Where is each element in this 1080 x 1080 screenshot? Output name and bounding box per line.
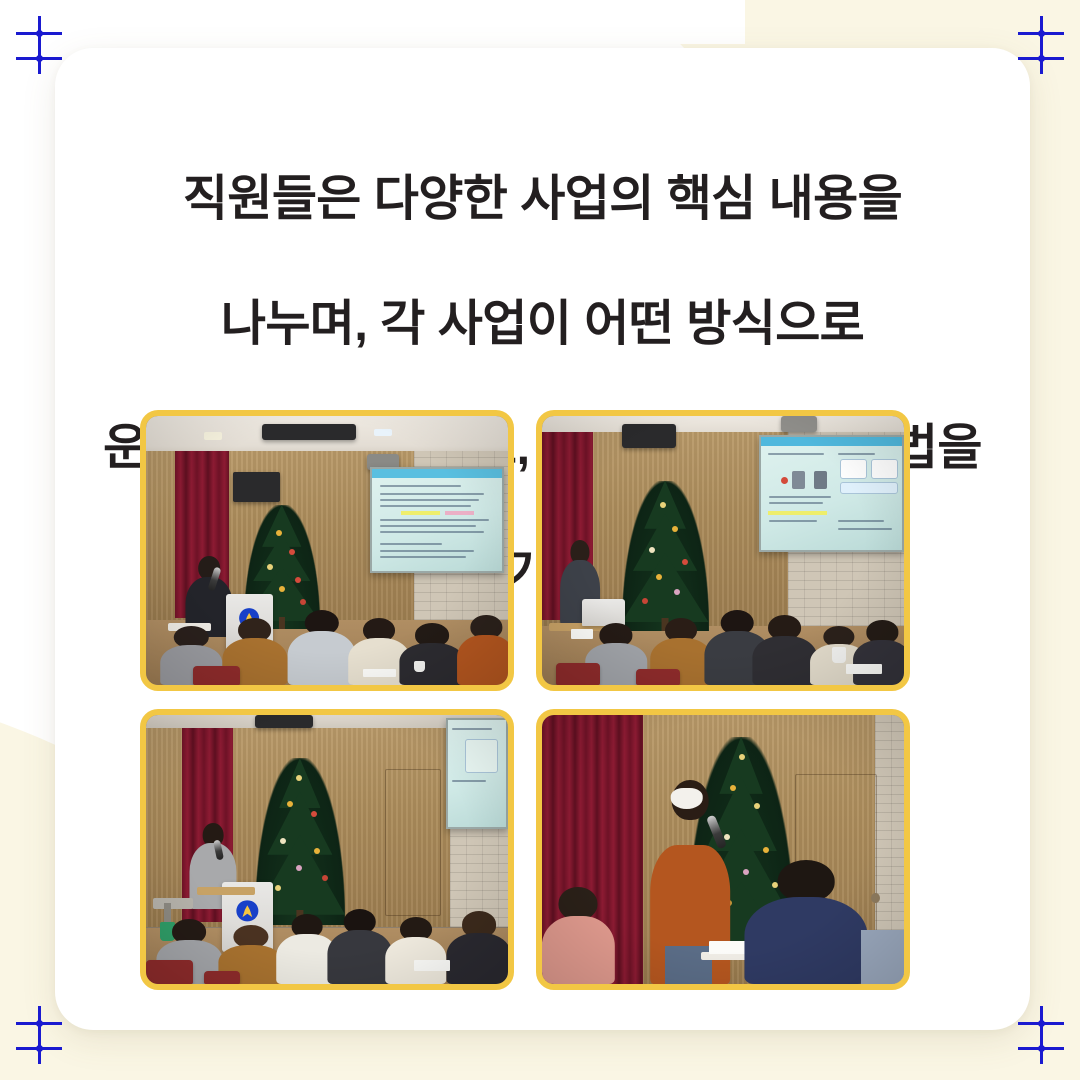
photo-2-frame[interactable] <box>536 410 910 691</box>
photo-4-image <box>542 715 904 984</box>
content-card: 직원들은 다양한 사업의 핵심 내용을 나누며, 각 사업이 어떤 방식으로 운… <box>55 48 1030 1030</box>
register-mark-top-right-icon <box>1018 16 1064 74</box>
photo-3-image <box>146 715 508 984</box>
photo-4-frame[interactable] <box>536 709 910 990</box>
photo-2-image <box>542 416 904 685</box>
register-mark-bottom-right-icon <box>1018 1006 1064 1064</box>
photo-1-image <box>146 416 508 685</box>
register-mark-top-left-icon <box>16 16 62 74</box>
background-white-top-mask <box>0 0 745 44</box>
photo-grid <box>140 410 950 990</box>
photo-3-frame[interactable] <box>140 709 514 990</box>
photo-1-frame[interactable] <box>140 410 514 691</box>
headline-line-2: 나누며, 각 사업이 어떤 방식으로 <box>69 294 1016 356</box>
register-mark-bottom-left-icon <box>16 1006 62 1064</box>
headline-line-1: 직원들은 다양한 사업의 핵심 내용을 <box>69 169 1016 231</box>
